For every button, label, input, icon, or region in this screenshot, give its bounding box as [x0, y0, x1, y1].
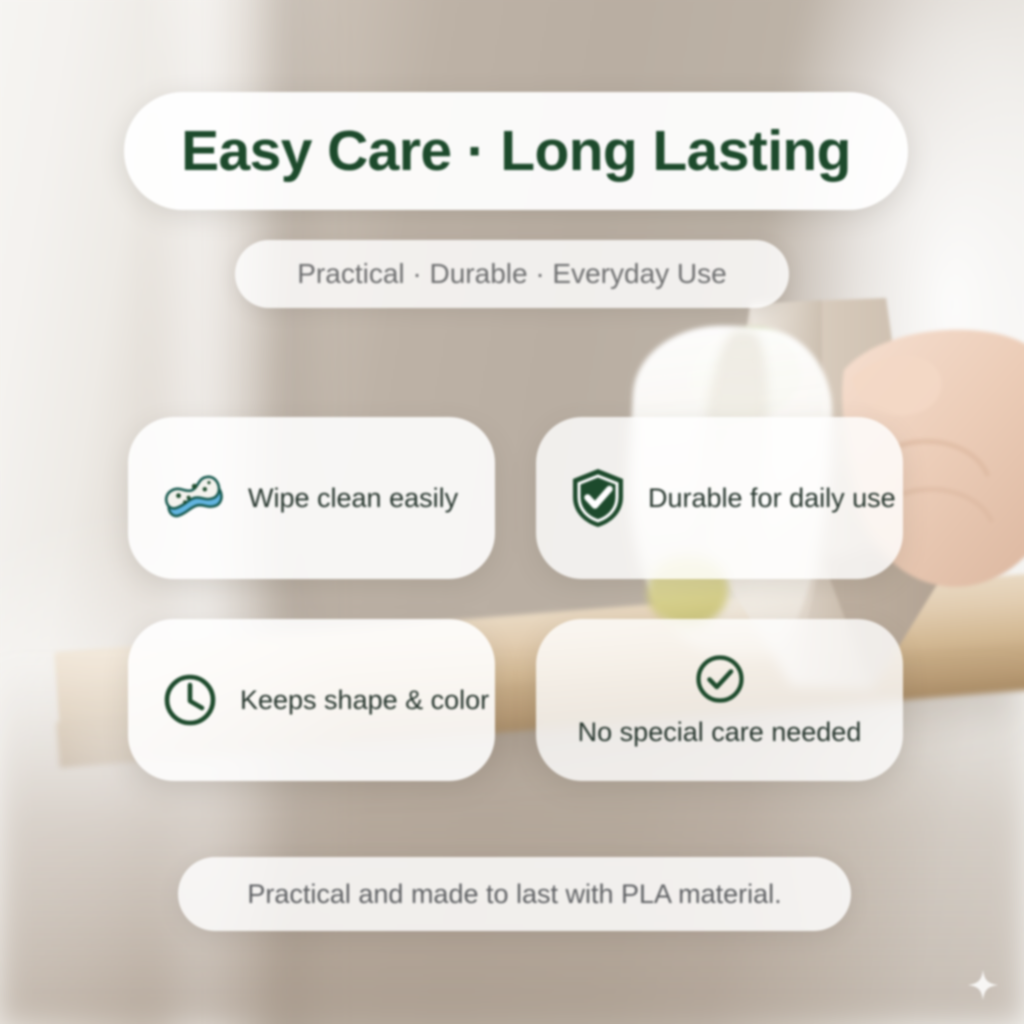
feature-label: Wipe clean easily: [248, 483, 458, 514]
page-title: Easy Care · Long Lasting: [181, 118, 851, 184]
title-pill: Easy Care · Long Lasting: [124, 92, 908, 210]
page-subtitle: Practical · Durable · Everyday Use: [297, 258, 726, 290]
feature-label: Durable for daily use: [648, 483, 896, 514]
shield-check-icon: [570, 467, 626, 529]
feature-card-durable[interactable]: Durable for daily use: [536, 417, 903, 579]
sparkle-icon: [968, 970, 998, 1000]
footer-pill: Practical and made to last with PLA mate…: [178, 857, 851, 931]
feature-card-keeps-shape[interactable]: Keeps shape & color: [128, 619, 495, 781]
overlay-content: Easy Care · Long Lasting Practical · Dur…: [0, 0, 1024, 1024]
feature-label: No special care needed: [578, 717, 862, 748]
feature-card-no-special-care[interactable]: No special care needed: [536, 619, 903, 781]
subtitle-pill: Practical · Durable · Everyday Use: [235, 240, 789, 308]
check-circle-icon: [694, 653, 746, 705]
feature-label: Keeps shape & color: [240, 685, 489, 716]
footer-note: Practical and made to last with PLA mate…: [247, 879, 781, 910]
clock-icon: [162, 672, 218, 728]
sponge-icon: [162, 472, 226, 524]
promo-graphic: Easy Care · Long Lasting Practical · Dur…: [0, 0, 1024, 1024]
feature-card-wipe-clean[interactable]: Wipe clean easily: [128, 417, 495, 579]
